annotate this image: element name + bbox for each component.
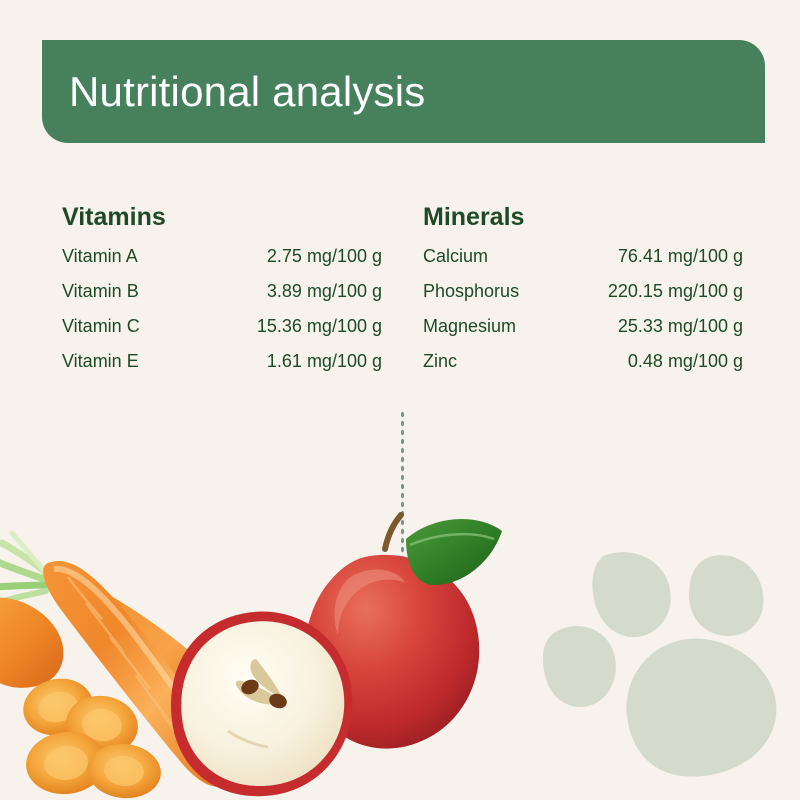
paw-print-icon [536,540,786,790]
minerals-column: Minerals Calcium 76.41 mg/100 g Phosphor… [423,205,743,386]
minerals-heading: Minerals [423,205,743,230]
table-row: Vitamin A 2.75 mg/100 g [62,246,382,281]
nutrient-value: 3.89 mg/100 g [267,281,382,302]
table-row: Calcium 76.41 mg/100 g [423,246,743,281]
nutrient-name: Zinc [423,351,457,372]
table-row: Vitamin E 1.61 mg/100 g [62,351,382,386]
nutrient-name: Calcium [423,246,488,267]
nutrient-value: 25.33 mg/100 g [618,316,743,337]
nutrient-value: 0.48 mg/100 g [628,351,743,372]
paw-toe-upper-left [592,552,670,637]
paw-main-pad [626,639,776,777]
carrot-chunk [0,598,63,688]
table-row: Vitamin C 15.36 mg/100 g [62,316,382,351]
nutrient-value: 15.36 mg/100 g [257,316,382,337]
nutrient-value: 2.75 mg/100 g [267,246,382,267]
nutrient-name: Vitamin E [62,351,139,372]
apple-half-flesh [181,621,344,786]
nutrient-name: Phosphorus [423,281,519,302]
table-row: Phosphorus 220.15 mg/100 g [423,281,743,316]
table-row: Zinc 0.48 mg/100 g [423,351,743,386]
nutrient-name: Vitamin A [62,246,138,267]
page-title: Nutritional analysis [42,71,426,113]
vitamins-column: Vitamins Vitamin A 2.75 mg/100 g Vitamin… [62,205,382,386]
nutrient-name: Magnesium [423,316,516,337]
nutrient-name: Vitamin C [62,316,140,337]
nutrient-value: 76.41 mg/100 g [618,246,743,267]
nutritional-analysis-infographic: Nutritional analysis Vitamins Vitamin A … [0,0,800,800]
nutrient-value: 1.61 mg/100 g [267,351,382,372]
paw-toe-upper-right [689,555,763,636]
table-row: Magnesium 25.33 mg/100 g [423,316,743,351]
vitamins-heading: Vitamins [62,205,382,230]
apple-leaf [406,519,502,585]
paw-toe-left [543,626,616,707]
nutrient-name: Vitamin B [62,281,139,302]
apple-stem [385,515,401,549]
table-row: Vitamin B 3.89 mg/100 g [62,281,382,316]
carrot-greens [0,533,46,607]
nutrient-value: 220.15 mg/100 g [608,281,743,302]
carrots-and-apples-photo [0,495,527,800]
header-banner: Nutritional analysis [42,40,765,143]
